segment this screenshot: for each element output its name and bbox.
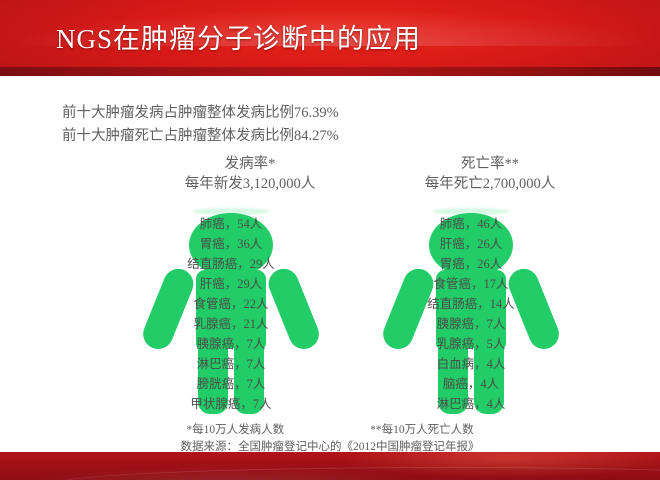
page-title: NGS在肿瘤分子诊断中的应用 — [56, 22, 421, 56]
footnotes: *每10万人发病人数 **每10万人死亡人数 数据来源：全国肿瘤登记中心的《20… — [0, 422, 660, 456]
torso-icon — [196, 270, 266, 348]
head-icon — [189, 213, 273, 277]
mortality-title: 死亡率** — [360, 154, 620, 174]
leg-left-icon — [438, 338, 468, 414]
torso-icon — [436, 270, 506, 348]
footnote-row: *每10万人发病人数 **每10万人死亡人数 — [0, 422, 660, 439]
footer-swoosh-glow — [264, 452, 660, 480]
slide: NGS在肿瘤分子诊断中的应用 前十大肿瘤发病占肿瘤整体发病比例76.39% 前十… — [0, 0, 660, 480]
arm-right-icon — [264, 264, 323, 353]
footnote-mortality: **每10万人死亡人数 — [370, 422, 474, 439]
footer-banner — [0, 452, 660, 480]
stat-line-incidence-share: 前十大肿瘤发病占肿瘤整体发病比例76.39% — [62, 102, 482, 125]
mortality-column-header: 死亡率** 每年死亡2,700,000人 — [360, 154, 620, 195]
leg-right-icon — [234, 338, 264, 414]
arm-left-icon — [379, 264, 438, 353]
incidence-subtitle: 每年新发3,120,000人 — [120, 174, 380, 195]
arm-right-icon — [504, 264, 563, 353]
human-figure-incidence — [156, 208, 306, 418]
footer-swoosh-light — [0, 459, 528, 480]
stat-line-mortality-share: 前十大肿瘤死亡占肿瘤整体发病比例84.27% — [62, 125, 482, 148]
leg-left-icon — [198, 338, 228, 414]
mortality-subtitle: 每年死亡2,700,000人 — [360, 174, 620, 195]
footnote-incidence: *每10万人发病人数 — [186, 422, 284, 439]
footer-swoosh-arc — [53, 467, 660, 480]
incidence-column-header: 发病率* 每年新发3,120,000人 — [120, 154, 380, 195]
incidence-title: 发病率* — [120, 154, 380, 174]
human-figure-mortality — [396, 208, 546, 418]
arm-left-icon — [139, 264, 198, 353]
head-icon — [429, 213, 513, 277]
leg-right-icon — [474, 338, 504, 414]
summary-stats: 前十大肿瘤发病占肿瘤整体发病比例76.39% 前十大肿瘤死亡占肿瘤整体发病比例8… — [62, 102, 482, 148]
